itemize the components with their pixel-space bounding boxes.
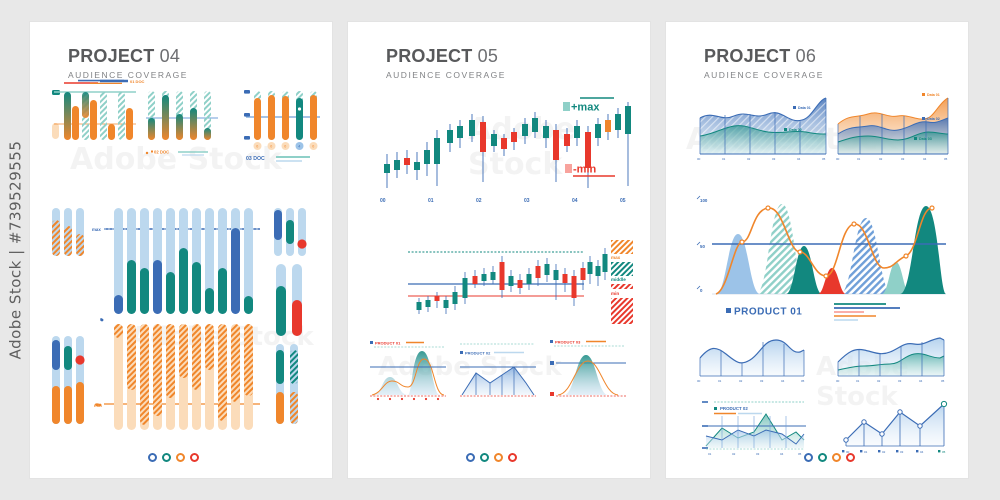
svg-text:01: 01 — [856, 379, 860, 383]
chart-step-line[interactable]: 00 01 02 03 04 05 — [842, 401, 947, 454]
dot-4[interactable] — [846, 453, 855, 462]
svg-text:03: 03 — [760, 379, 764, 383]
card-06-title: PROJECT 06 — [704, 46, 824, 67]
area-chart-data-01-02-03[interactable]: 000102 030405 Data 01 Data 02 Data 03 — [836, 93, 948, 161]
label-03-doc: 03 DOC — [246, 156, 265, 162]
legend-text-data-01: Data 01 — [798, 106, 811, 110]
svg-text:00: 00 — [697, 379, 701, 383]
mini-chart-product-02[interactable]: PRODUCT 02 — [460, 344, 536, 396]
dot-1[interactable] — [466, 453, 475, 462]
card-05-mini-charts[interactable]: PRODUCT 01 PRODUCT 02 — [368, 337, 630, 409]
dot-4[interactable] — [190, 453, 199, 462]
legend-text-r-data-01: Data 01 — [927, 93, 940, 97]
dot-4[interactable] — [508, 453, 517, 462]
dot-2[interactable] — [480, 453, 489, 462]
dot-2[interactable] — [162, 453, 171, 462]
svg-text:03: 03 — [524, 198, 530, 204]
svg-text:02: 02 — [739, 379, 743, 383]
svg-text:02: 02 — [882, 450, 886, 454]
poster-card-project-05[interactable]: PROJECT 05 AUDIENCE COVERAGE Adobe Stock… — [348, 22, 650, 478]
dot-3[interactable] — [176, 453, 185, 462]
legend-text-r-data-03: Data 03 — [919, 137, 932, 141]
card-06-subtitle: AUDIENCE COVERAGE — [704, 70, 824, 80]
chart-01-doc[interactable]: 01 DOC — [52, 79, 145, 140]
svg-text:04: 04 — [781, 379, 785, 383]
svg-text:05: 05 — [944, 157, 948, 161]
card-06-peaks-chart[interactable]: 100 50 0 — [694, 190, 959, 325]
svg-text:02: 02 — [879, 157, 883, 161]
svg-text:05: 05 — [798, 452, 802, 456]
card-04-title-main: PROJECT — [68, 46, 154, 66]
svg-text:05: 05 — [620, 198, 626, 204]
svg-text:0: 0 — [256, 145, 258, 149]
svg-text:03: 03 — [756, 452, 760, 456]
svg-text:00: 00 — [380, 198, 386, 204]
card-06-top-areas[interactable]: 000102 030405 Data 01 Data 02 — [696, 90, 956, 168]
dot-3[interactable] — [494, 453, 503, 462]
peak-1 — [716, 234, 760, 294]
mini-title-03: PRODUCT 03 — [555, 339, 581, 344]
side-group-right-bottom — [276, 344, 298, 424]
product-01-legend-bars — [834, 304, 900, 320]
dot-2[interactable] — [818, 453, 827, 462]
legend-data-01-left: Data 01 — [793, 106, 811, 110]
legend-label-middle: middle — [611, 277, 626, 282]
side-group-left-bottom — [52, 336, 85, 424]
svg-text:03: 03 — [898, 379, 902, 383]
chart-02-doc[interactable]: 02 DOC — [146, 91, 218, 155]
svg-text:05: 05 — [822, 157, 826, 161]
svg-text:02: 02 — [732, 452, 736, 456]
card-06-mid-areas[interactable]: 000102 030405 000102 030405 — [696, 334, 956, 392]
main-columns[interactable] — [114, 208, 253, 430]
mini-title-02: PRODUCT 02 — [465, 350, 491, 355]
svg-text:00: 00 — [697, 157, 701, 161]
annotation-max: +max — [563, 98, 614, 114]
card-05-title-num: 05 — [478, 46, 498, 66]
poster-stage: Adobe Stock | #739529555 PROJECT 04 AUDI… — [0, 0, 1000, 500]
chart-03-doc[interactable]: 0 0 0 4 0 03 DOC — [244, 90, 320, 162]
svg-text:03: 03 — [901, 157, 905, 161]
poster-card-project-06[interactable]: PROJECT 06 AUDIENCE COVERAGE Adobe Stock… — [666, 22, 968, 478]
svg-text:02: 02 — [476, 198, 482, 204]
area-chart-data-01-02[interactable]: 000102 030405 Data 01 Data 02 — [697, 98, 826, 161]
dot-1[interactable] — [804, 453, 813, 462]
svg-text:02: 02 — [877, 379, 881, 383]
annotation-max-text: +max — [571, 102, 600, 114]
svg-text:03: 03 — [772, 157, 776, 161]
area-x-ticks-left: 000102 030405 — [697, 157, 826, 161]
card-04-title-num: 04 — [160, 46, 180, 66]
svg-text:04: 04 — [572, 198, 578, 204]
svg-text:01: 01 — [864, 450, 868, 454]
card-05-dots[interactable] — [466, 453, 517, 462]
label-02-doc: 02 DOC — [154, 150, 169, 155]
dot-1[interactable] — [148, 453, 157, 462]
svg-text:02: 02 — [747, 157, 751, 161]
legend-label-min: min — [611, 291, 619, 296]
svg-text:05: 05 — [942, 450, 946, 454]
card-05-candlestick-bands[interactable]: max middle min — [362, 234, 637, 330]
svg-text:01: 01 — [857, 157, 861, 161]
svg-text:01: 01 — [722, 157, 726, 161]
svg-text:05: 05 — [941, 379, 945, 383]
annotation-min: -min — [565, 164, 615, 177]
svg-text:04: 04 — [797, 157, 801, 161]
side-group-right-middle — [276, 264, 302, 336]
card-05-title: PROJECT 05 — [386, 46, 506, 67]
svg-text:0: 0 — [270, 145, 272, 149]
annotation-min-text: -min — [573, 164, 597, 176]
svg-text:04: 04 — [923, 157, 927, 161]
card-06-title-num: 06 — [796, 46, 816, 66]
svg-text:00: 00 — [836, 157, 840, 161]
svg-text:00: 00 — [836, 379, 840, 383]
poster-card-project-04[interactable]: PROJECT 04 AUDIENCE COVERAGE Adobe Stock… — [30, 22, 332, 478]
y-tick-100: 100 — [700, 198, 708, 203]
svg-text:04: 04 — [919, 379, 923, 383]
card-04-dots[interactable] — [148, 453, 199, 462]
svg-text:01: 01 — [708, 452, 712, 456]
legend-text-data-02: Data 02 — [789, 128, 802, 132]
y-tick-50: 50 — [700, 244, 705, 249]
card-05-title-main: PROJECT — [386, 46, 472, 66]
card-06-title-main: PROJECT — [704, 46, 790, 66]
label-01-doc: 01 DOC — [130, 79, 145, 84]
mini-title-01: PRODUCT 01 — [375, 340, 401, 345]
card-04-header: PROJECT 04 AUDIENCE COVERAGE — [68, 46, 188, 80]
card-06-bottom-charts[interactable]: PRODUCT 02 010203 0405 — [700, 396, 958, 460]
side-group-left-top — [52, 208, 84, 256]
side-group-right-top — [274, 208, 307, 256]
svg-text:4: 4 — [298, 145, 300, 149]
watermark-strip: Adobe Stock | #739529555 — [0, 0, 30, 500]
svg-text:04: 04 — [780, 452, 784, 456]
svg-text:01: 01 — [428, 198, 434, 204]
candlestick-x-ticks: 00 01 02 03 04 05 — [380, 198, 626, 204]
card-06-header: PROJECT 06 AUDIENCE COVERAGE — [704, 46, 824, 80]
card-04-top-charts[interactable]: 01 DOC — [38, 78, 328, 188]
card-04-main-chart[interactable]: max 0 min — [38, 200, 328, 432]
dot-3[interactable] — [832, 453, 841, 462]
svg-text:01: 01 — [718, 379, 722, 383]
card-06-dots[interactable] — [804, 453, 855, 462]
svg-text:0: 0 — [284, 145, 286, 149]
mini-chart-product-03[interactable]: PRODUCT 03 — [550, 339, 626, 396]
svg-text:03: 03 — [900, 450, 904, 454]
product-02-label: PRODUCT 02 — [720, 406, 748, 411]
axis-label-max: max — [92, 227, 101, 232]
peaks-y-ticks: 100 50 0 — [700, 198, 708, 293]
chart-product-02[interactable]: PRODUCT 02 010203 0405 — [702, 402, 806, 456]
small-area-left[interactable]: 000102 030405 — [697, 340, 805, 383]
legend-label-max: max — [611, 255, 621, 260]
y-tick-0: 0 — [700, 288, 703, 293]
card-05-header: PROJECT 05 AUDIENCE COVERAGE — [386, 46, 506, 80]
card-04-title: PROJECT 04 — [68, 46, 188, 67]
product-01-label: PRODUCT 01 — [734, 307, 802, 318]
legend-text-r-data-02: Data 02 — [927, 117, 940, 121]
card-05-band-legend[interactable]: max middle min — [611, 240, 633, 324]
svg-text:05: 05 — [801, 379, 805, 383]
watermark-side-text: Adobe Stock | #739529555 — [6, 141, 24, 360]
area-x-ticks-right: 000102 030405 — [836, 157, 948, 161]
small-area-right[interactable]: 000102 030405 — [836, 338, 945, 383]
mini-chart-product-01[interactable]: PRODUCT 01 — [370, 340, 446, 400]
svg-text:04: 04 — [920, 450, 924, 454]
card-05-candlestick-main[interactable]: 00 01 02 03 04 05 +max -min — [362, 90, 637, 208]
svg-text:0: 0 — [312, 145, 314, 149]
card-05-subtitle: AUDIENCE COVERAGE — [386, 70, 506, 80]
